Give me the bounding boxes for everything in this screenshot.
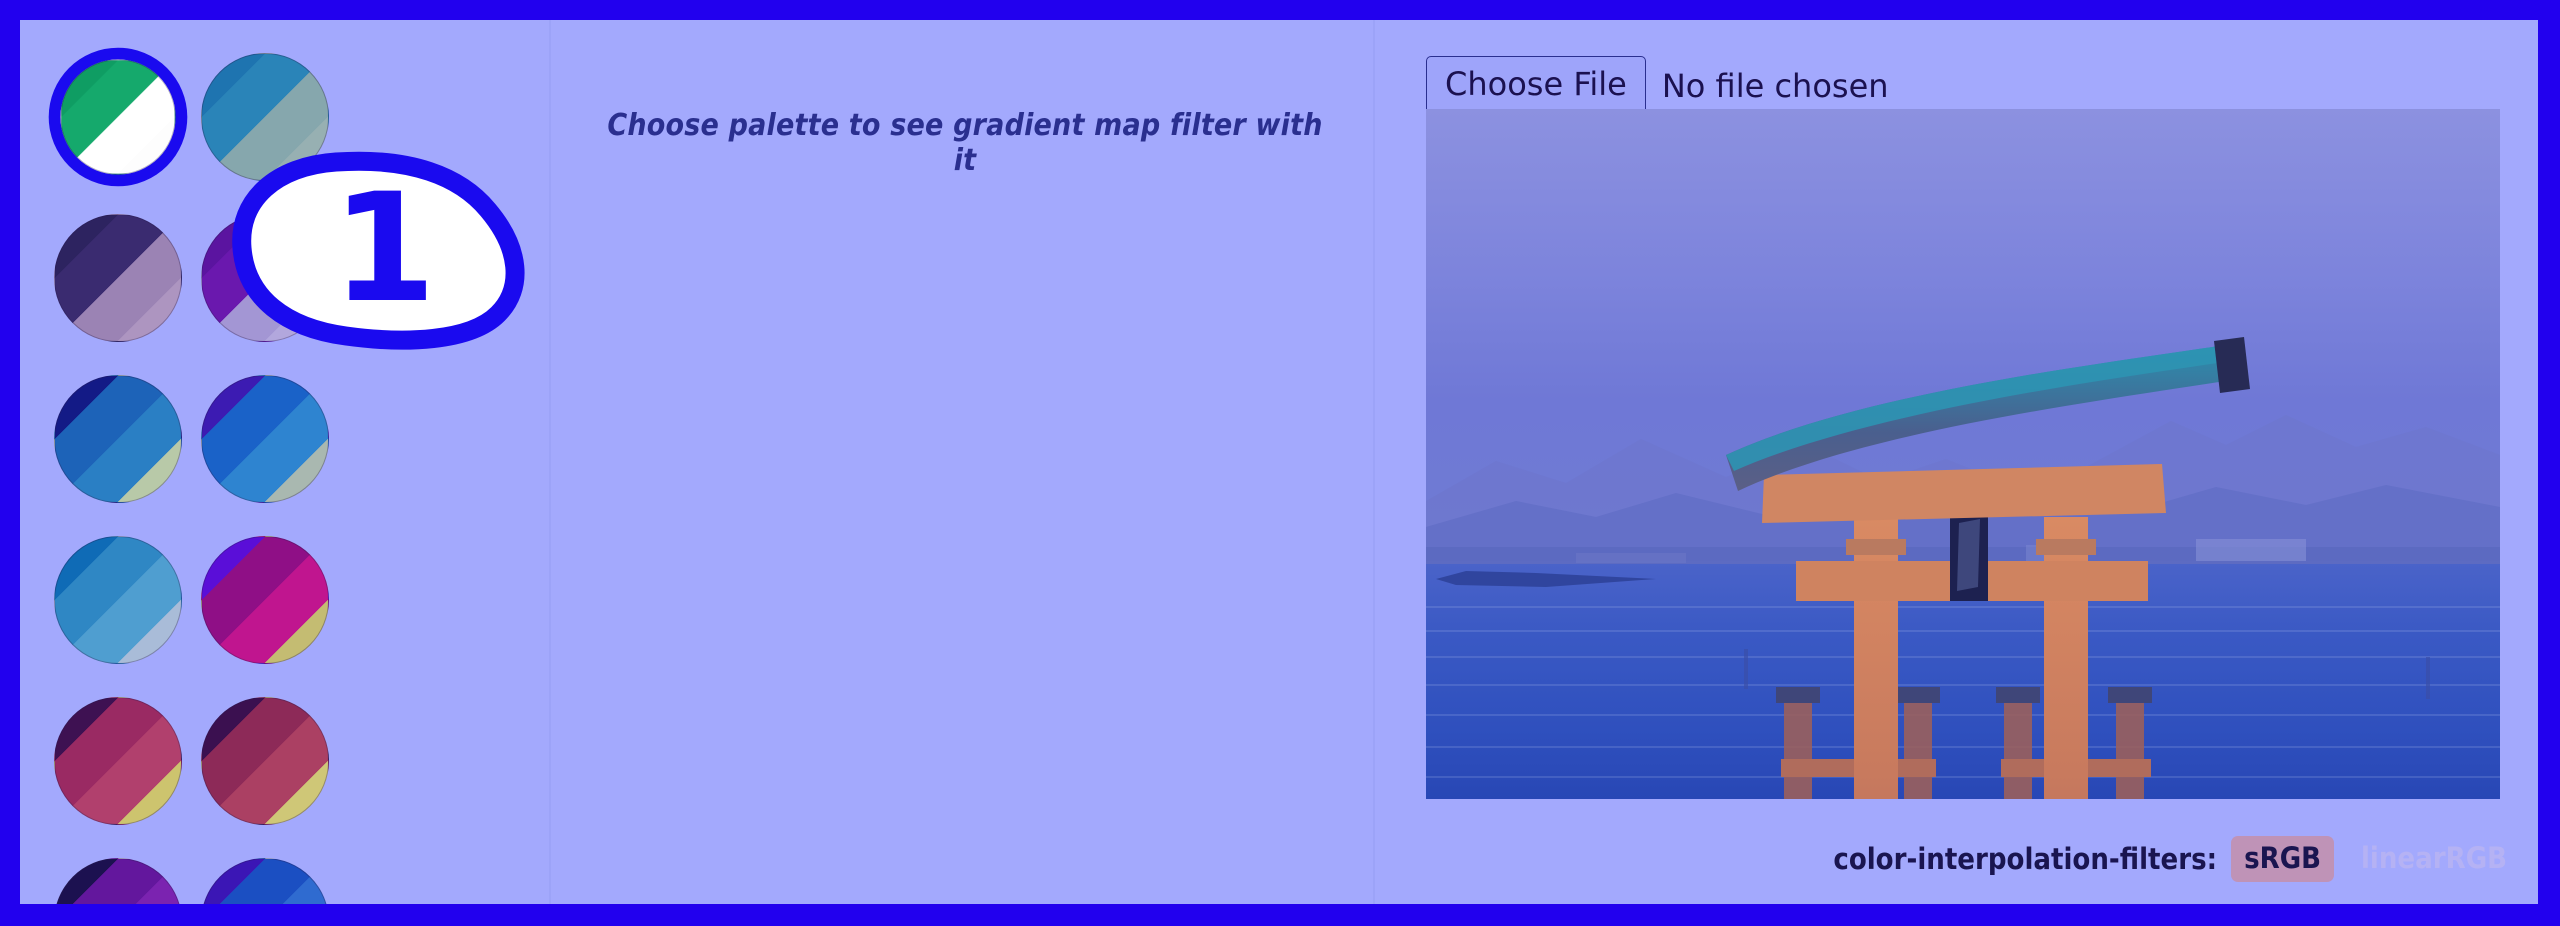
palette-grid[interactable] (44, 36, 484, 904)
palette-swatch-magenta-gold[interactable] (201, 536, 329, 664)
filtered-image-preview (1426, 109, 2500, 799)
app-root: 1 Choose palette to see gradient map fil… (20, 20, 2538, 904)
palette-swatch-teal-steel[interactable] (201, 53, 329, 181)
palette-swatch-emerald-white[interactable] (60, 59, 175, 174)
palette-swatch-wine-khaki[interactable] (201, 697, 329, 825)
palette-swatch-cell[interactable] (44, 36, 191, 197)
palette-swatch-navy-sage[interactable] (54, 375, 182, 503)
palette-swatch-cell[interactable] (191, 358, 338, 519)
palette-swatch-cell[interactable] (191, 197, 338, 358)
palette-swatch-plum-olive[interactable] (54, 697, 182, 825)
color-interpolation-filters-label: color-interpolation-filters: (1833, 842, 2217, 876)
cif-option-linearrgb[interactable]: linearRGB (2348, 836, 2520, 882)
palette-swatch-cell[interactable] (44, 358, 191, 519)
file-status-label: No file chosen (1662, 67, 1889, 105)
palette-swatch-cell[interactable] (44, 841, 191, 904)
page-frame: 1 Choose palette to see gradient map fil… (0, 0, 2560, 926)
palette-panel: 1 (20, 20, 551, 904)
palette-hint-text: Choose palette to see gradient map filte… (595, 108, 1335, 178)
choose-file-button[interactable]: Choose File (1426, 56, 1646, 115)
hint-panel: Choose palette to see gradient map filte… (551, 20, 1375, 904)
palette-swatch-cell[interactable] (191, 841, 338, 904)
palette-swatch-purple-pearl[interactable] (54, 858, 182, 905)
palette-swatch-azure-sky[interactable] (54, 536, 182, 664)
file-input-row[interactable]: Choose File No file chosen (1426, 56, 1889, 115)
palette-swatch-violet-lilac[interactable] (201, 214, 329, 342)
palette-swatch-cell[interactable] (191, 36, 338, 197)
palette-swatch-cell[interactable] (191, 519, 338, 680)
cif-option-srgb[interactable]: sRGB (2231, 836, 2334, 882)
palette-swatch-purple-azure[interactable] (201, 375, 329, 503)
palette-swatch-cell[interactable] (44, 197, 191, 358)
palette-swatch-indigo-mauve[interactable] (54, 214, 182, 342)
palette-swatch-cobalt-ice[interactable] (201, 858, 329, 905)
palette-swatch-cell[interactable] (44, 680, 191, 841)
palette-swatch-cell[interactable] (44, 519, 191, 680)
preview-panel: Choose File No file chosen (1375, 20, 2538, 904)
color-interpolation-filters-row[interactable]: color-interpolation-filters: sRGB linear… (1375, 836, 2520, 882)
palette-swatch-cell[interactable] (191, 680, 338, 841)
